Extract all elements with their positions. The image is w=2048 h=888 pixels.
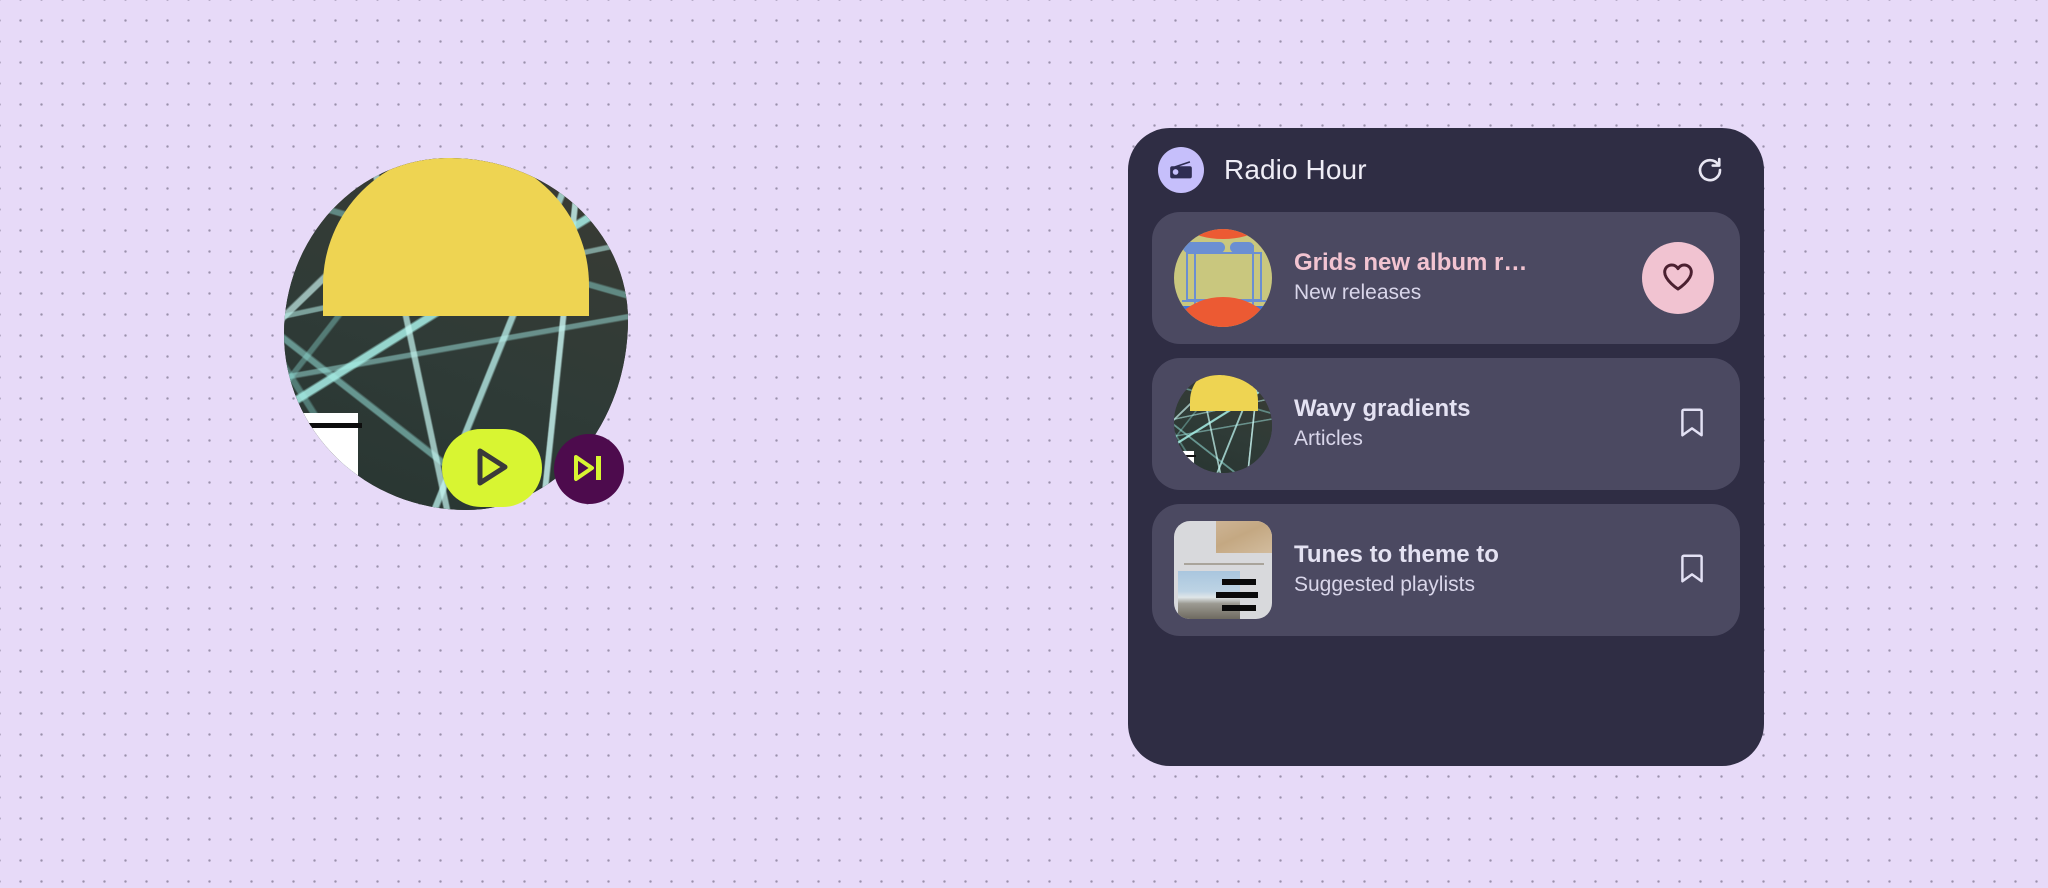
thumb-grid-frame xyxy=(1186,252,1262,301)
list-item[interactable]: Wavy gradients Articles xyxy=(1152,358,1740,490)
like-button[interactable] xyxy=(1642,242,1714,314)
list-item-title: Wavy gradients xyxy=(1294,394,1648,425)
list-item-text: Wavy gradients Articles xyxy=(1294,394,1648,453)
radio-icon xyxy=(1158,147,1204,193)
thumb-yellow-arc xyxy=(1190,375,1258,411)
thumb-red-top xyxy=(1174,229,1272,239)
heart-icon xyxy=(1661,261,1695,296)
bookmark-icon xyxy=(1679,553,1705,588)
list-item[interactable]: Tunes to theme to Suggested playlists xyxy=(1152,504,1740,636)
thumb-text-bar xyxy=(1216,592,1258,598)
list-item-subtitle: Articles xyxy=(1294,425,1648,453)
bookmark-button[interactable] xyxy=(1670,398,1714,450)
panel-header: Radio Hour xyxy=(1152,128,1740,212)
thumb-text-bar xyxy=(1222,579,1256,585)
grids-thumbnail xyxy=(1174,229,1272,327)
feed-list: Grids new album r… New releases Wavy xyxy=(1152,212,1740,636)
refresh-icon[interactable] xyxy=(1692,152,1728,188)
list-item-subtitle: Suggested playlists xyxy=(1294,571,1648,599)
list-item-title: Tunes to theme to xyxy=(1294,540,1648,571)
radio-hour-panel: Radio Hour Grids new album r… xyxy=(1128,128,1764,766)
list-item-text: Grids new album r… New releases xyxy=(1294,248,1620,307)
thumb-grid-line xyxy=(1194,247,1196,307)
list-item-subtitle: New releases xyxy=(1294,279,1620,307)
list-item-text: Tunes to theme to Suggested playlists xyxy=(1294,540,1648,599)
play-triangle-icon xyxy=(472,446,512,491)
bookmark-icon xyxy=(1679,407,1705,442)
wavy-gradients-thumbnail xyxy=(1174,375,1272,473)
tunes-thumbnail xyxy=(1174,521,1272,619)
next-track-button[interactable] xyxy=(554,434,624,504)
white-square-accent xyxy=(296,413,358,485)
thumb-text-bar xyxy=(1222,605,1256,611)
play-button[interactable] xyxy=(442,429,542,507)
page-title: Radio Hour xyxy=(1224,154,1672,186)
skip-next-icon xyxy=(572,452,606,487)
thumb-grid-line xyxy=(1252,245,1254,307)
list-item[interactable]: Grids new album r… New releases xyxy=(1152,212,1740,344)
thumb-white-square xyxy=(1176,451,1194,471)
bookmark-button[interactable] xyxy=(1670,544,1714,596)
list-item-title: Grids new album r… xyxy=(1294,248,1620,279)
thumb-sand-photo xyxy=(1216,521,1272,553)
thumb-divider-line xyxy=(1184,563,1264,565)
album-artwork xyxy=(284,158,628,510)
